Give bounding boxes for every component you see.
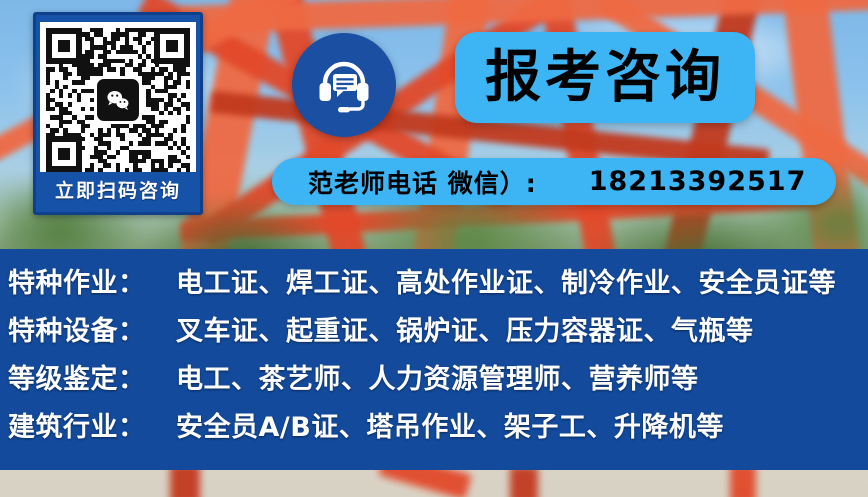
qr-module <box>90 98 94 102</box>
qr-module <box>186 63 190 67</box>
qr-module <box>173 128 177 132</box>
qr-module <box>107 163 111 167</box>
qr-module <box>186 85 190 89</box>
promo-banner: 立即扫码咨询 报考咨询 范老师电话 微信）: 18213392517 特种作业：… <box>0 0 868 497</box>
category-row: 建筑行业： 安全员A/B证、塔吊作业、架子工、升降机等 <box>0 405 868 453</box>
category-row: 特种作业： 电工证、焊工证、高处作业证、制冷作业、安全员证等 <box>0 261 868 309</box>
qr-module <box>55 128 59 132</box>
qr-code-card[interactable]: 立即扫码咨询 <box>33 12 203 215</box>
qr-module <box>186 72 190 76</box>
category-name: 特种设备： <box>8 309 160 348</box>
qr-module <box>168 163 172 167</box>
category-name: 等级鉴定： <box>8 357 160 396</box>
qr-module <box>116 150 120 154</box>
qr-module <box>116 168 120 172</box>
qr-module <box>46 80 50 84</box>
qr-module <box>111 67 115 71</box>
bottom-crane-leg <box>510 470 538 497</box>
qr-module <box>90 107 94 111</box>
qr-caption: 立即扫码咨询 <box>55 172 181 212</box>
contact-pill[interactable]: 范老师电话 微信）: 18213392517 <box>272 158 836 205</box>
qr-module <box>129 141 133 145</box>
category-name: 特种作业： <box>8 261 160 300</box>
headset-support-badge <box>292 33 396 137</box>
qr-module <box>90 89 94 93</box>
qr-module <box>138 168 142 172</box>
category-name: 建筑行业： <box>8 405 160 444</box>
category-items: 叉车证、起重证、锅炉证、压力容器证、气瓶等 <box>176 309 754 348</box>
qr-module <box>181 128 185 132</box>
qr-module <box>164 168 168 172</box>
qr-module <box>68 120 72 124</box>
qr-module <box>59 93 63 97</box>
qr-module <box>50 133 54 137</box>
qr-module <box>85 76 89 80</box>
qr-module <box>50 67 54 71</box>
headset-support-icon <box>312 53 376 117</box>
category-items: 安全员A/B证、塔吊作业、架子工、升降机等 <box>176 405 724 444</box>
wechat-qr-code-icon[interactable] <box>40 22 196 172</box>
qr-module <box>50 107 54 111</box>
qr-module <box>159 124 163 128</box>
qr-module <box>81 80 85 84</box>
qr-module <box>90 115 94 119</box>
qr-module <box>186 120 190 124</box>
qr-module <box>107 146 111 150</box>
qr-module <box>146 41 150 45</box>
category-row: 等级鉴定： 电工、茶艺师、人力资源管理师、营养师等 <box>0 357 868 405</box>
qr-module <box>173 85 177 89</box>
qr-module <box>177 111 181 115</box>
qr-module <box>177 168 181 172</box>
bottom-crane-leg <box>730 470 756 497</box>
qr-module <box>77 98 81 102</box>
qr-module <box>142 32 146 36</box>
qr-module <box>142 159 146 163</box>
qr-module <box>68 72 72 76</box>
qr-module <box>186 155 190 159</box>
qr-module <box>111 155 115 159</box>
qr-module <box>151 37 155 41</box>
category-items: 电工、茶艺师、人力资源管理师、营养师等 <box>176 357 699 396</box>
qr-module <box>120 137 124 141</box>
category-list-panel: 特种作业： 电工证、焊工证、高处作业证、制冷作业、安全员证等 特种设备： 叉车证… <box>0 249 868 470</box>
contact-label: 范老师电话 微信）: <box>308 164 537 200</box>
qr-module <box>142 63 146 67</box>
qr-module <box>186 168 190 172</box>
qr-module <box>120 72 124 76</box>
qr-finder-top-right <box>154 28 190 64</box>
qr-module <box>107 50 111 54</box>
qr-module <box>146 141 150 145</box>
qr-module <box>90 168 94 172</box>
qr-module <box>63 85 67 89</box>
qr-module <box>125 168 129 172</box>
qr-module <box>68 93 72 97</box>
qr-module <box>50 89 54 93</box>
qr-module <box>168 111 172 115</box>
qr-modules <box>46 28 190 172</box>
bottom-photo-strip <box>0 470 868 497</box>
qr-finder-top-left <box>46 28 82 64</box>
qr-module <box>177 80 181 84</box>
qr-module <box>63 76 67 80</box>
qr-module <box>159 111 163 115</box>
qr-module <box>151 28 155 32</box>
qr-module <box>81 137 85 141</box>
wechat-logo-icon <box>97 79 139 121</box>
qr-module <box>98 168 102 172</box>
headline-pill: 报考咨询 <box>455 32 755 123</box>
contact-phone-number[interactable]: 18213392517 <box>589 166 807 197</box>
category-row: 特种设备： 叉车证、起重证、锅炉证、压力容器证、气瓶等 <box>0 309 868 357</box>
page-title: 报考咨询 <box>485 50 725 106</box>
bottom-crane-leg <box>170 470 200 497</box>
qr-module <box>186 146 190 150</box>
qr-module <box>68 102 72 106</box>
qr-module <box>81 128 85 132</box>
qr-finder-bottom-left <box>46 136 82 172</box>
qr-module <box>98 72 102 76</box>
qr-module <box>168 146 172 150</box>
qr-module <box>186 107 190 111</box>
qr-module <box>116 37 120 41</box>
qr-module <box>151 76 155 80</box>
category-items: 电工证、焊工证、高处作业证、制冷作业、安全员证等 <box>176 261 836 300</box>
qr-module <box>81 107 85 111</box>
qr-module <box>90 54 94 58</box>
qr-module <box>81 146 85 150</box>
qr-module <box>85 124 89 128</box>
qr-module <box>107 133 111 137</box>
qr-module <box>164 120 168 124</box>
qr-module <box>181 93 185 97</box>
